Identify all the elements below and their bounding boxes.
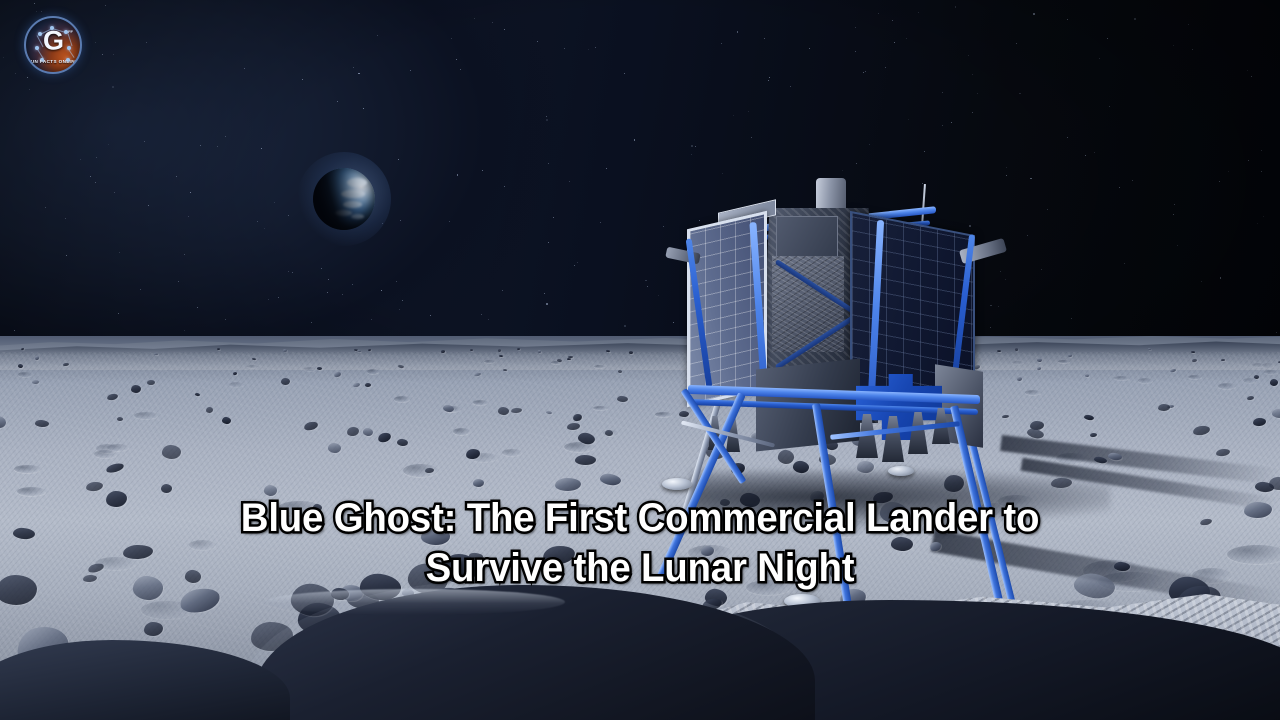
rock bbox=[162, 444, 182, 459]
rock bbox=[1270, 379, 1279, 387]
rock bbox=[517, 348, 520, 350]
rock bbox=[398, 364, 405, 368]
rock bbox=[1170, 368, 1177, 372]
rock bbox=[105, 462, 124, 474]
rock bbox=[503, 369, 507, 371]
rock bbox=[577, 431, 596, 446]
rock bbox=[1191, 351, 1195, 353]
rock bbox=[107, 393, 119, 401]
rock bbox=[555, 478, 581, 491]
footpad bbox=[662, 478, 692, 490]
rock bbox=[473, 479, 484, 487]
rock bbox=[499, 355, 503, 358]
rock bbox=[252, 358, 256, 361]
rock bbox=[1108, 452, 1123, 461]
channel-logo[interactable]: G FF FUN FACTS ONLINE bbox=[18, 14, 90, 76]
rock bbox=[546, 410, 552, 414]
rock bbox=[362, 427, 374, 437]
video-title: Blue Ghost: The First Commercial Lander … bbox=[26, 493, 1255, 593]
rock bbox=[1090, 433, 1097, 438]
rock bbox=[567, 358, 571, 360]
title-line-2: Survive the Lunar Night bbox=[26, 543, 1255, 593]
logo-caption: FUN FACTS ONLINE bbox=[26, 59, 80, 64]
rock bbox=[1148, 348, 1151, 350]
rock bbox=[21, 348, 24, 351]
rock bbox=[1253, 417, 1267, 426]
rock bbox=[1068, 354, 1072, 357]
rock bbox=[498, 406, 510, 415]
rock bbox=[18, 363, 24, 368]
rock bbox=[599, 472, 622, 487]
logo-letter: G bbox=[43, 25, 63, 56]
rock bbox=[1272, 408, 1280, 418]
logo-tag: FF bbox=[68, 29, 73, 34]
rock bbox=[568, 356, 573, 358]
earth-terminator bbox=[313, 168, 375, 230]
rock bbox=[470, 349, 473, 351]
rock bbox=[195, 392, 201, 396]
blue-ghost-lander bbox=[660, 178, 1060, 538]
video-frame: G FF FUN FACTS ONLINE Blue Ghost: The Fi… bbox=[0, 0, 1280, 720]
rock bbox=[606, 350, 610, 353]
rock bbox=[221, 416, 231, 425]
rock bbox=[117, 417, 123, 422]
rock bbox=[1094, 456, 1108, 465]
rock bbox=[1085, 374, 1089, 377]
rock bbox=[442, 404, 454, 413]
rock bbox=[1216, 448, 1231, 457]
rock bbox=[368, 349, 371, 352]
earth-sphere bbox=[313, 168, 375, 230]
footpad bbox=[888, 466, 914, 476]
rock bbox=[35, 419, 50, 427]
rock bbox=[346, 426, 359, 436]
rock bbox=[131, 385, 141, 393]
rock bbox=[575, 455, 596, 465]
rock bbox=[1221, 359, 1225, 361]
rock bbox=[317, 367, 322, 370]
rock bbox=[511, 408, 522, 414]
logo-badge-circle: G FF FUN FACTS ONLINE bbox=[24, 16, 82, 74]
rock bbox=[281, 378, 290, 385]
rock bbox=[441, 350, 445, 354]
rock bbox=[474, 372, 481, 376]
rock bbox=[32, 380, 39, 384]
rock bbox=[629, 351, 633, 355]
earth-crescent bbox=[313, 168, 375, 230]
rock bbox=[1158, 404, 1170, 411]
rock bbox=[35, 356, 39, 360]
rock bbox=[206, 407, 213, 413]
rock bbox=[333, 371, 341, 378]
rock bbox=[357, 350, 361, 353]
rock bbox=[154, 353, 158, 355]
rock bbox=[147, 380, 155, 385]
rock bbox=[1084, 414, 1095, 421]
rock bbox=[465, 448, 480, 460]
rock bbox=[327, 442, 341, 454]
rock bbox=[557, 358, 563, 362]
rock bbox=[617, 395, 629, 402]
rock bbox=[572, 413, 582, 422]
rock bbox=[86, 481, 104, 492]
rock bbox=[1247, 396, 1255, 401]
thermal-blanket bbox=[772, 256, 844, 352]
rock bbox=[618, 370, 623, 374]
rock bbox=[377, 431, 392, 443]
rock bbox=[1192, 359, 1197, 363]
rock bbox=[538, 350, 541, 353]
rock bbox=[353, 382, 361, 388]
rock bbox=[498, 349, 501, 352]
rock bbox=[63, 363, 69, 367]
rock bbox=[303, 420, 318, 431]
rock bbox=[1254, 375, 1259, 379]
rock bbox=[1192, 425, 1210, 436]
avionics-box bbox=[776, 216, 838, 260]
rock bbox=[144, 621, 164, 636]
rock bbox=[161, 484, 173, 494]
rock bbox=[217, 348, 220, 350]
rock bbox=[605, 430, 614, 437]
rock bbox=[397, 438, 409, 446]
title-line-1: Blue Ghost: The First Commercial Lander … bbox=[26, 493, 1255, 543]
rock bbox=[365, 383, 371, 387]
rock bbox=[425, 468, 434, 474]
sky-vignette bbox=[0, 0, 1280, 380]
rock bbox=[283, 349, 287, 352]
rock bbox=[233, 372, 238, 376]
rock bbox=[0, 414, 7, 429]
rock bbox=[567, 422, 581, 430]
